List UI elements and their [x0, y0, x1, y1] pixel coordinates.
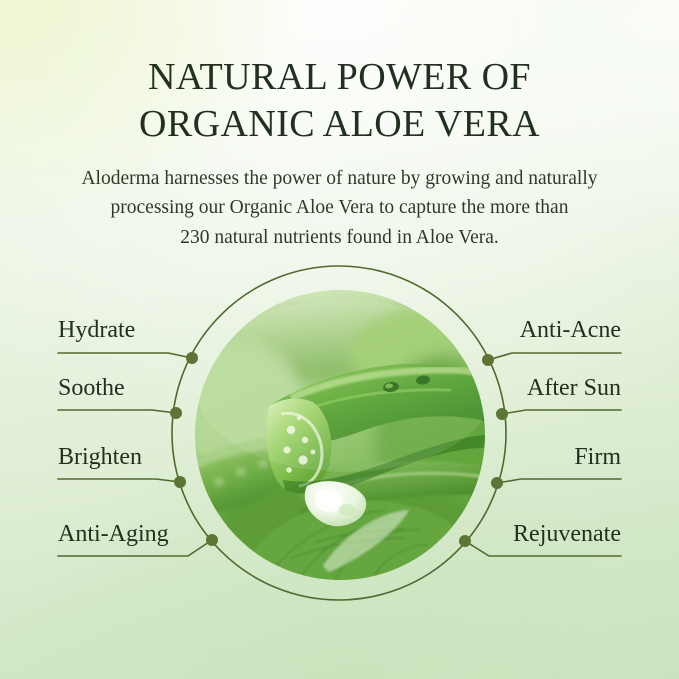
benefit-label-after-sun: After Sun: [527, 376, 621, 400]
benefit-label-firm: Firm: [574, 445, 621, 469]
benefit-label-brighten: Brighten: [58, 445, 142, 469]
benefit-label-anti-acne: Anti-Acne: [520, 318, 621, 342]
aloe-vera-infographic: NATURAL POWER OF ORGANIC ALOE VERA Alode…: [0, 0, 679, 679]
benefits-diagram: Hydrate Soothe Brighten Anti-Aging Anti-…: [0, 0, 679, 679]
benefit-label-soothe: Soothe: [58, 376, 125, 400]
benefit-label-hydrate: Hydrate: [58, 318, 135, 342]
benefit-label-rejuvenate: Rejuvenate: [513, 522, 621, 546]
benefit-label-anti-aging: Anti-Aging: [58, 522, 169, 546]
benefit-labels: Hydrate Soothe Brighten Anti-Aging Anti-…: [0, 0, 679, 679]
